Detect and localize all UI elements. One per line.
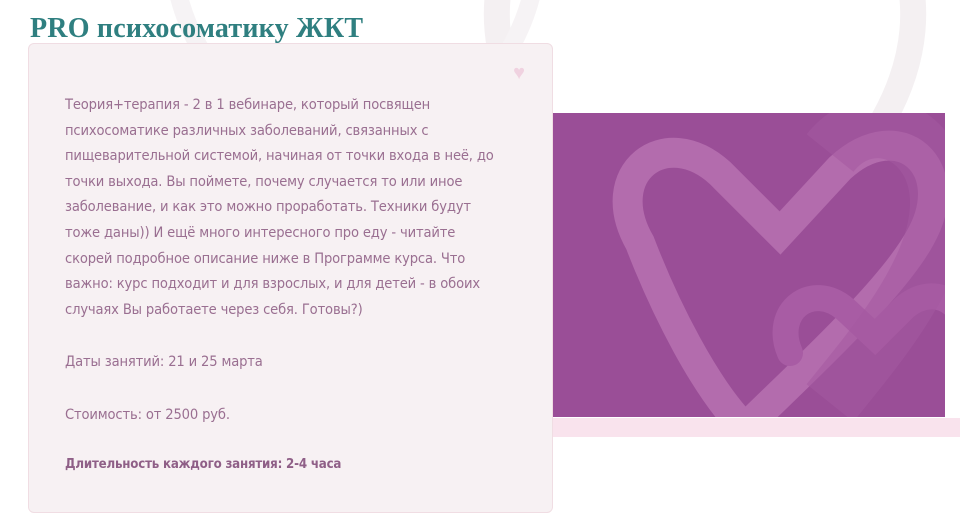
description-paragraph-dates: Даты занятий: 21 и 25 марта xyxy=(65,349,502,375)
description-card-body: Теория+терапия - 2 в 1 вебинаре, который… xyxy=(65,92,502,475)
description-paragraph-price: Стоимость: от 2500 руб. xyxy=(65,402,502,428)
promo-image xyxy=(490,113,945,417)
promo-image-band xyxy=(510,418,960,437)
page-title: PRO психосоматику ЖКТ xyxy=(30,12,363,46)
description-paragraph-duration: Длительность каждого занятия: 2-4 часа xyxy=(65,455,502,475)
description-paragraph-intro: Теория+терапия - 2 в 1 вебинаре, который… xyxy=(65,92,502,322)
content-area-divider xyxy=(550,437,960,470)
favorite-heart-icon[interactable]: ♥ xyxy=(508,62,530,84)
description-card: ♥ Теория+терапия - 2 в 1 вебинаре, котор… xyxy=(28,43,553,513)
